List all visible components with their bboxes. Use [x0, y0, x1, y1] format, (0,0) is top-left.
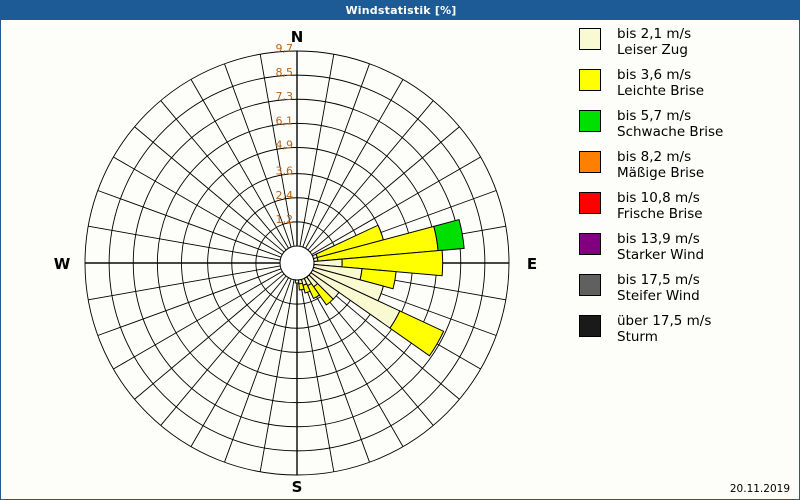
- window-title-bar: Windstatistik [%]: [1, 1, 800, 20]
- legend-speed-range: bis 10,8 m/s: [617, 190, 703, 206]
- legend-item[interactable]: bis 5,7 m/sSchwache Brise: [579, 108, 794, 140]
- radial-tick-label: 7,3: [276, 90, 294, 103]
- legend-label: bis 13,9 m/sStarker Wind: [617, 231, 704, 263]
- legend-label: bis 17,5 m/sSteifer Wind: [617, 272, 700, 304]
- grid-spoke: [308, 101, 433, 250]
- legend-speed-range: bis 2,1 m/s: [617, 26, 691, 42]
- legend-beaufort-name: Frische Brise: [617, 206, 703, 222]
- compass-label-s: S: [292, 478, 303, 496]
- grid-spoke: [260, 280, 294, 472]
- calm-circle: [280, 246, 314, 280]
- legend-color-swatch: [579, 274, 601, 296]
- legend-label: bis 8,2 m/sMäßige Brise: [617, 149, 704, 181]
- legend-color-swatch: [579, 110, 601, 132]
- legend-color-swatch: [579, 28, 601, 50]
- radial-tick-label: 3,6: [276, 165, 294, 178]
- legend-speed-range: bis 5,7 m/s: [617, 108, 723, 124]
- legend-label: über 17,5 m/sSturm: [617, 313, 711, 345]
- legend-color-swatch: [579, 151, 601, 173]
- legend-beaufort-name: Starker Wind: [617, 247, 704, 263]
- radial-tick-label: 8,5: [276, 66, 294, 79]
- windrose-window: Windstatistik [%] 1,22,43,64,96,17,38,59…: [0, 0, 800, 500]
- compass-label-e: E: [527, 255, 537, 273]
- legend-label: bis 10,8 m/sFrische Brise: [617, 190, 703, 222]
- compass-label-w: W: [54, 255, 71, 273]
- grid-spoke: [161, 276, 286, 425]
- legend-item[interactable]: bis 10,8 m/sFrische Brise: [579, 190, 794, 222]
- grid-spoke: [88, 266, 280, 300]
- calm-center: [280, 246, 314, 280]
- legend-speed-range: bis 3,6 m/s: [617, 67, 704, 83]
- legend-beaufort-name: Sturm: [617, 329, 711, 345]
- legend-label: bis 2,1 m/sLeiser Zug: [617, 26, 691, 58]
- legend-beaufort-name: Leiser Zug: [617, 42, 691, 58]
- legend-item[interactable]: bis 3,6 m/sLeichte Brise: [579, 67, 794, 99]
- grid-spoke: [88, 226, 280, 260]
- legend-beaufort-name: Steifer Wind: [617, 288, 700, 304]
- radial-tick-label: 4,9: [276, 138, 294, 151]
- grid-spoke: [135, 127, 284, 252]
- radial-tick-label: 2,4: [276, 189, 294, 202]
- date-stamp: 20.11.2019: [730, 483, 790, 495]
- legend-color-swatch: [579, 69, 601, 91]
- legend-speed-range: über 17,5 m/s: [617, 313, 711, 329]
- legend-speed-range: bis 8,2 m/s: [617, 149, 704, 165]
- radial-tick-label: 1,2: [276, 213, 294, 226]
- legend-color-swatch: [579, 233, 601, 255]
- legend-item[interactable]: über 17,5 m/sSturm: [579, 313, 794, 345]
- grid-spoke: [135, 274, 284, 399]
- window-title: Windstatistik [%]: [345, 4, 456, 17]
- legend-label: bis 5,7 m/sSchwache Brise: [617, 108, 723, 140]
- legend-item[interactable]: bis 17,5 m/sSteifer Wind: [579, 272, 794, 304]
- legend-label: bis 3,6 m/sLeichte Brise: [617, 67, 704, 99]
- legend-beaufort-name: Schwache Brise: [617, 124, 723, 140]
- petal-segment: [390, 311, 444, 356]
- tick-label-layer: 1,22,43,64,96,17,38,59,7: [276, 42, 294, 226]
- legend-speed-range: bis 17,5 m/s: [617, 272, 700, 288]
- legend-color-swatch: [579, 192, 601, 214]
- grid-spoke: [300, 54, 334, 246]
- legend-item[interactable]: bis 8,2 m/sMäßige Brise: [579, 149, 794, 181]
- legend-item[interactable]: bis 2,1 m/sLeiser Zug: [579, 26, 794, 58]
- compass-label-n: N: [291, 28, 304, 46]
- petal-segment: [434, 220, 464, 251]
- legend-color-swatch: [579, 315, 601, 337]
- speed-legend: bis 2,1 m/sLeiser Zugbis 3,6 m/sLeichte …: [579, 26, 794, 354]
- legend-item[interactable]: bis 13,9 m/sStarker Wind: [579, 231, 794, 263]
- legend-speed-range: bis 13,9 m/s: [617, 231, 704, 247]
- grid-spoke: [300, 280, 334, 472]
- radial-tick-label: 6,1: [276, 114, 294, 127]
- legend-beaufort-name: Mäßige Brise: [617, 165, 704, 181]
- grid-spoke: [161, 101, 286, 250]
- legend-beaufort-name: Leichte Brise: [617, 83, 704, 99]
